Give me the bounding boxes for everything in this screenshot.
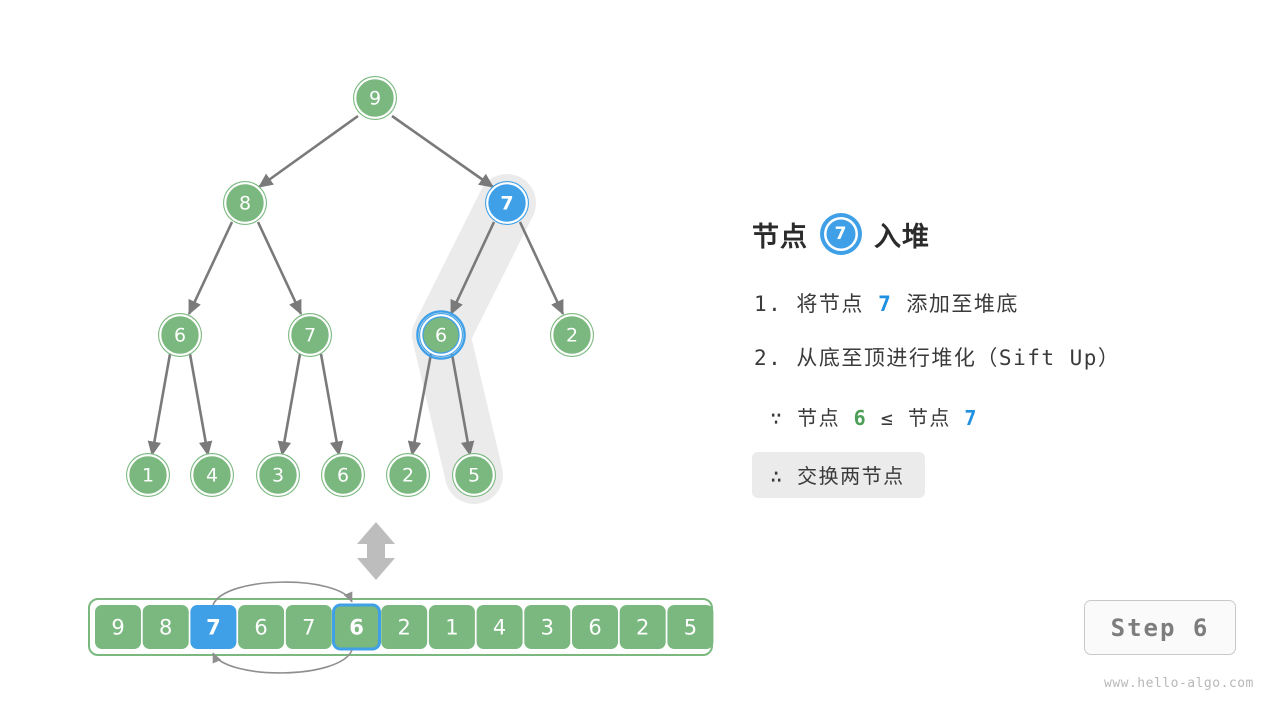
edge-8-7 [258, 222, 301, 314]
node-label: 7 [304, 325, 316, 347]
tree-node-4[interactable]: 4 [190, 453, 234, 497]
reason-left-value: 6 [854, 406, 868, 430]
node-label: 6 [337, 465, 349, 487]
tree-node-9[interactable]: 9 [353, 76, 397, 120]
array-cell-label: 6 [254, 616, 267, 640]
step-1-prefix: 1. 将节点 [754, 292, 864, 316]
step-2-text: 2. 从底至顶进行堆化（Sift Up） [754, 346, 1120, 370]
tree-node-1[interactable]: 1 [126, 453, 170, 497]
reason-operator: ≤ [881, 406, 895, 430]
conclusion-box: ∴ 交换两节点 [752, 452, 925, 498]
reason-line: ∵ 节点 6 ≤ 节点 7 [770, 402, 978, 431]
reason-right-value: 7 [964, 406, 978, 430]
array-cell-label: 6 [588, 616, 601, 640]
array-cell-label: 5 [684, 616, 697, 640]
edge-9-8 [259, 116, 358, 187]
tree-nodes: 9876762143625 [126, 76, 594, 497]
step-1-suffix: 添加至堆底 [906, 292, 1019, 316]
array-cell[interactable]: 9 [95, 605, 141, 649]
edge-9-7 [392, 116, 493, 187]
tree-node-5[interactable]: 5 [452, 453, 496, 497]
tree-node-6[interactable]: 6 [417, 311, 464, 358]
edge-6-4 [190, 354, 208, 455]
edge-7b-6 [321, 354, 339, 455]
panel-title-node-badge: 7 [824, 217, 858, 251]
array-cell[interactable]: 8 [143, 605, 189, 649]
array-cell[interactable]: 6 [238, 605, 284, 649]
edge-7-2 [520, 222, 563, 314]
node-label: 5 [468, 465, 480, 487]
array-cell-label: 2 [398, 616, 411, 640]
array-cell[interactable]: 1 [429, 605, 475, 649]
step-badge: Step 6 [1084, 600, 1236, 655]
array-cell-label: 9 [111, 616, 124, 640]
panel-title-prefix: 节点 [752, 215, 808, 254]
tree-edges [152, 116, 563, 455]
step-2-line: 2. 从底至顶进行堆化（Sift Up） [754, 342, 1120, 372]
node-label: 2 [402, 465, 414, 487]
swap-arrow-forward [213, 582, 352, 605]
array-cell-label: 4 [493, 616, 506, 640]
node-label: 9 [369, 88, 381, 110]
panel-title: 节点 7 入堆 [752, 212, 930, 256]
array-cell[interactable]: 6 [334, 605, 380, 649]
tree-array-link-icon [357, 522, 395, 580]
array-cell[interactable]: 7 [190, 605, 236, 649]
heap-diagram: 9876762143625 9876762143625 [0, 0, 740, 720]
step-badge-label: Step 6 [1111, 614, 1210, 642]
node-label: 6 [174, 325, 186, 347]
step-1-value: 7 [878, 292, 892, 316]
node-label: 1 [142, 465, 154, 487]
tree-node-7[interactable]: 7 [485, 181, 529, 225]
tree-node-2[interactable]: 2 [386, 453, 430, 497]
reason-right-label: 节点 [908, 406, 951, 430]
array-cell[interactable]: 7 [286, 605, 332, 649]
tree-node-7[interactable]: 7 [288, 313, 332, 357]
explanation-panel: 节点 7 入堆 1. 将节点 7 添加至堆底 2. 从底至顶进行堆化（Sift … [752, 0, 1280, 720]
swap-arrow-back [213, 650, 352, 673]
array-representation: 9876762143625 [89, 599, 713, 655]
tree-node-6[interactable]: 6 [321, 453, 365, 497]
node-label: 3 [272, 465, 284, 487]
edge-6-1 [152, 354, 170, 455]
array-cell-label: 1 [445, 616, 458, 640]
node-label: 4 [206, 465, 218, 487]
conclusion-text: 交换两节点 [797, 464, 905, 488]
node-label: 8 [239, 193, 251, 215]
tree-node-6[interactable]: 6 [158, 313, 202, 357]
diagram-canvas: 9876762143625 9876762143625 节点 7 入堆 [0, 0, 1280, 720]
tree-node-3[interactable]: 3 [256, 453, 300, 497]
therefore-symbol: ∴ [770, 464, 784, 488]
array-cell-label: 7 [206, 616, 221, 640]
array-cell-label: 2 [636, 616, 649, 640]
reason-left-label: 节点 [797, 406, 840, 430]
edge-8-6 [189, 222, 232, 314]
array-cell[interactable]: 2 [620, 605, 666, 649]
step-1-line: 1. 将节点 7 添加至堆底 [754, 288, 1019, 318]
array-cell-label: 6 [349, 616, 364, 640]
heap-svg: 9876762143625 9876762143625 [0, 0, 740, 720]
watermark: www.hello-algo.com [1104, 676, 1254, 691]
node-label: 6 [435, 325, 447, 347]
tree-node-8[interactable]: 8 [223, 181, 267, 225]
array-cell[interactable]: 4 [477, 605, 523, 649]
array-cell-label: 8 [159, 616, 172, 640]
array-cell-label: 3 [541, 616, 554, 640]
array-cell[interactable]: 2 [381, 605, 427, 649]
array-cell-label: 7 [302, 616, 315, 640]
node-label: 2 [566, 325, 578, 347]
array-cell[interactable]: 3 [524, 605, 570, 649]
tree-node-2[interactable]: 2 [550, 313, 594, 357]
panel-title-suffix: 入堆 [874, 215, 930, 254]
edge-7b-3 [282, 354, 300, 455]
array-cell[interactable]: 6 [572, 605, 618, 649]
because-symbol: ∵ [770, 406, 784, 430]
array-cell[interactable]: 5 [667, 605, 713, 649]
node-label: 7 [500, 193, 513, 215]
